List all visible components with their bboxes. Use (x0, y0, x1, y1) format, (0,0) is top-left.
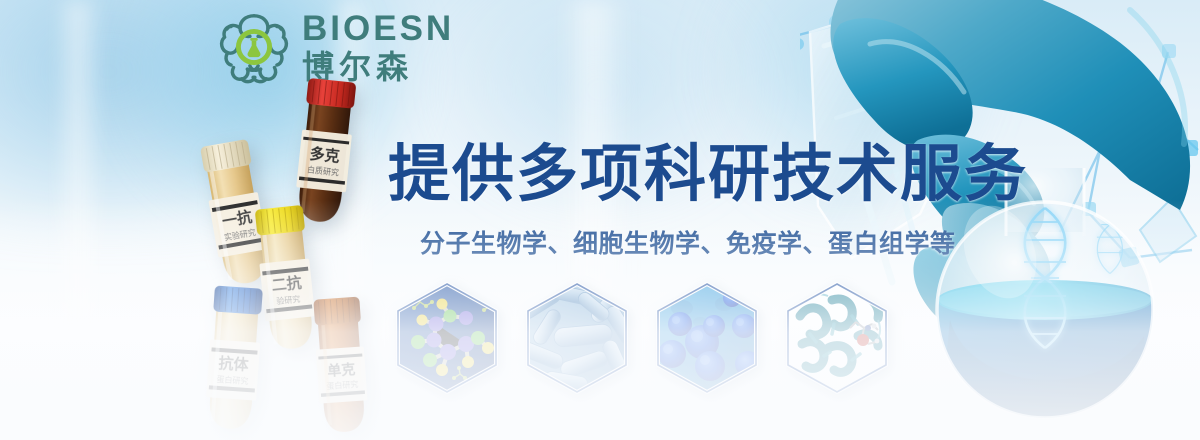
vial-label: 多克 (309, 144, 341, 165)
logo-wordmark: BIOESN 博尔森 (302, 11, 454, 83)
bottom-fade-overlay (0, 200, 1200, 440)
logo-english-name: BIOESN (302, 11, 454, 46)
banner: BIOESN 博尔森 一抗 实验研究 (0, 0, 1200, 440)
bioesn-flask-logo-icon (213, 6, 295, 88)
site-logo[interactable]: BIOESN 博尔森 (213, 6, 454, 88)
